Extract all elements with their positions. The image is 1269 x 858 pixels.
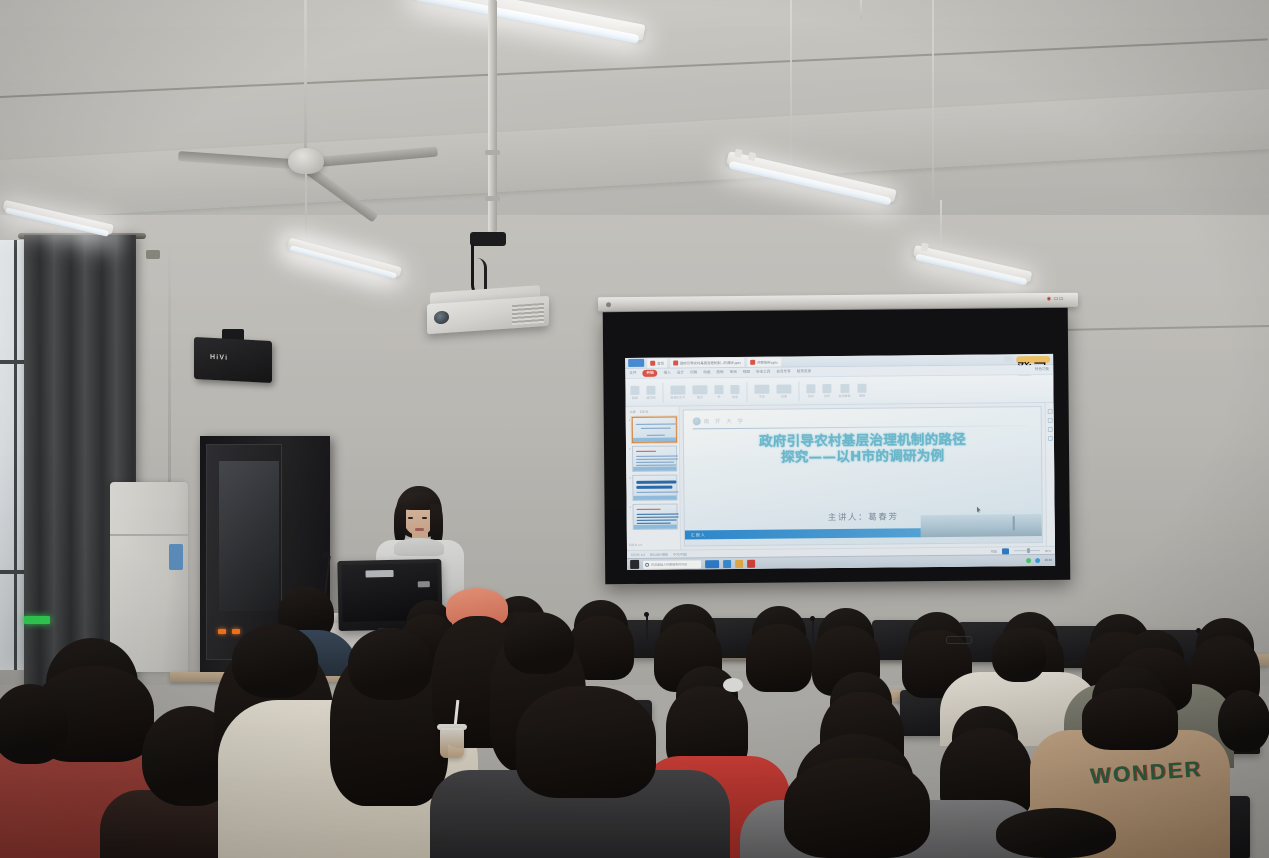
slide-thumbnail-4[interactable]: 4 bbox=[633, 504, 678, 530]
rack-orange-led bbox=[232, 629, 240, 634]
ribbon-label: 选择 bbox=[859, 393, 865, 397]
audience-head bbox=[996, 808, 1116, 858]
thumbnail-number: 3 bbox=[629, 477, 630, 480]
slide-thumbnail-3[interactable]: 3 bbox=[632, 475, 677, 501]
ribbon-separator bbox=[798, 381, 799, 401]
new-slide-icon bbox=[670, 385, 685, 394]
audience-head bbox=[1218, 690, 1269, 752]
ribbon-tab-file[interactable]: 文件 bbox=[629, 371, 636, 376]
slide-count-label: 幻灯片 1/4 bbox=[629, 543, 642, 547]
ribbon-label: 粘贴 bbox=[632, 395, 638, 399]
taskbar-media-icon[interactable] bbox=[747, 559, 755, 567]
projector-pole-joint bbox=[485, 150, 500, 155]
ribbon-label: 版式 bbox=[697, 395, 703, 399]
doc-icon bbox=[650, 360, 655, 365]
ribbon-group-paragraph[interactable]: 段落 bbox=[776, 384, 791, 398]
format-painter-icon bbox=[646, 385, 655, 394]
speaker-brand-label: HiVi bbox=[210, 354, 228, 362]
search-placeholder: 在这里输入你要搜索的内容 bbox=[651, 562, 687, 566]
ribbon-label: 节 bbox=[718, 395, 721, 399]
presenter-eye bbox=[408, 517, 413, 519]
ac-panel-seam bbox=[110, 534, 188, 536]
audience-head bbox=[232, 624, 318, 698]
university-logo-text: 南 开 大 学 bbox=[704, 417, 745, 425]
search-icon bbox=[645, 562, 649, 566]
status-views-label[interactable]: 视图 bbox=[991, 549, 997, 553]
thumbnail-footer-band bbox=[633, 438, 676, 442]
taskbar-spacer bbox=[759, 561, 1022, 564]
ribbon-group-section[interactable]: 节 bbox=[714, 385, 723, 399]
tray-status-icon[interactable] bbox=[1027, 558, 1032, 563]
rack-orange-led bbox=[218, 629, 226, 634]
thumbnail-number: 4 bbox=[630, 506, 631, 509]
fan-motor-hub bbox=[288, 148, 324, 174]
taskbar-browser-icon[interactable] bbox=[723, 560, 731, 568]
thumbnail-pane-footer: 幻灯片 1/4 bbox=[629, 543, 678, 547]
housing-fixing-dot bbox=[606, 302, 611, 307]
audience-hair bbox=[784, 758, 930, 858]
section-icon bbox=[714, 385, 723, 394]
ribbon-tab-features[interactable]: 特色功能 bbox=[1035, 367, 1049, 372]
doc-tab-presentation[interactable]: 政府引导农村基层治理机制...的调研.pptx bbox=[670, 357, 744, 367]
doc-tab-home[interactable]: 首页 bbox=[647, 358, 667, 367]
ribbon-label: 形状 bbox=[808, 394, 814, 398]
ribbon-group-font[interactable]: 字体 bbox=[754, 384, 769, 398]
slide-thumbnail-pane[interactable]: 大纲 幻灯片 1 2 bbox=[626, 407, 681, 551]
desk-microphone-stem bbox=[646, 616, 648, 640]
thumbnail-number: 2 bbox=[629, 448, 630, 451]
paste-icon bbox=[630, 385, 639, 394]
ribbon-spacer bbox=[817, 370, 1029, 372]
thumbnail-pane-header: 大纲 幻灯片 bbox=[628, 410, 677, 414]
projector-vent bbox=[512, 303, 544, 325]
status-language: 中文(中国) bbox=[673, 552, 687, 556]
ac-badge bbox=[169, 544, 183, 570]
slide-footer-text: 汇报人 bbox=[691, 532, 706, 538]
clock-time: 15:42 bbox=[1045, 558, 1053, 562]
ribbon-label: 字体 bbox=[759, 394, 765, 398]
editor-main: 大纲 幻灯片 1 2 bbox=[626, 403, 1055, 550]
monitor-sticker bbox=[418, 581, 430, 587]
slide-footer-bar: 汇报人 bbox=[685, 528, 921, 539]
resources-icon[interactable] bbox=[1047, 436, 1052, 441]
photo-building-shape bbox=[1013, 516, 1015, 530]
ribbon-tab-slideshow[interactable]: 放映 bbox=[716, 370, 723, 375]
audience-head bbox=[504, 612, 574, 674]
podium-microphone-head bbox=[322, 551, 330, 559]
wall-speaker: HiVi bbox=[194, 337, 272, 383]
outline-tab[interactable]: 大纲 bbox=[630, 410, 636, 414]
thumbnail-number: 1 bbox=[629, 419, 630, 422]
desk-microphone-head bbox=[644, 612, 649, 617]
light-hanger-wire bbox=[932, 0, 934, 200]
audience-glasses bbox=[946, 636, 972, 644]
ribbon-tab-animations[interactable]: 动画 bbox=[703, 370, 710, 375]
ribbon-group-paste[interactable]: 粘贴 bbox=[630, 385, 639, 399]
slide-photo-decoration bbox=[920, 514, 1042, 537]
audience-head bbox=[992, 628, 1046, 682]
doc-tab-label: 首页 bbox=[657, 360, 664, 365]
find-replace-icon bbox=[840, 383, 849, 392]
light-hanger-wire bbox=[860, 0, 862, 20]
audience-head bbox=[0, 684, 68, 764]
ribbon-tab-resources[interactable]: 稻壳资源 bbox=[797, 369, 811, 374]
ribbon-tab-home[interactable]: 开始 bbox=[642, 370, 657, 377]
housing-brand-mark: ◉ ▭▭ bbox=[1047, 296, 1064, 302]
tabbar-extra-icon[interactable] bbox=[1004, 356, 1013, 362]
zoom-level-label: 80% bbox=[1045, 548, 1051, 552]
hair-scrunchie bbox=[723, 678, 743, 692]
curtain-bracket bbox=[146, 250, 160, 259]
lecture-hall-photo: HiVi bbox=[0, 0, 1269, 858]
doc-tab-defense[interactable]: 开题答辩.pptx bbox=[747, 357, 781, 366]
slide-canvas-pane[interactable]: 南 开 大 学 政府引导农村基层治理机制的路径 探究——以H市的调研为例 主讲人… bbox=[680, 403, 1046, 549]
slide-thumbnail-2[interactable]: 2 bbox=[632, 446, 677, 472]
slide-thumbnail-1[interactable]: 1 bbox=[632, 417, 677, 443]
eye-icon[interactable] bbox=[1047, 418, 1052, 423]
bubble-tea-cup[interactable] bbox=[440, 728, 464, 758]
taskbar-search-input[interactable]: 在这里输入你要搜索的内容 bbox=[643, 560, 701, 569]
status-spacer bbox=[692, 551, 986, 554]
university-logo: 南 开 大 学 bbox=[693, 417, 745, 426]
fan-downrod bbox=[304, 0, 307, 152]
ribbon-tab-view[interactable]: 视图 bbox=[743, 370, 750, 375]
ribbon-label: 新建幻灯片 bbox=[671, 395, 686, 399]
shapes-icon[interactable] bbox=[1047, 427, 1052, 432]
university-seal-icon bbox=[693, 417, 701, 425]
taskbar-wps-icon[interactable] bbox=[705, 560, 719, 568]
audience-hair bbox=[1082, 688, 1178, 750]
desk-microphone-head bbox=[810, 616, 815, 621]
reset-icon bbox=[730, 384, 739, 393]
desk-microphone-stem bbox=[812, 620, 814, 648]
projection-screen-surface[interactable]: 首页 政府引导农村基层治理机制...的调研.pptx 开题答辩.pptx 登录 bbox=[625, 354, 1055, 570]
right-tool-rail[interactable] bbox=[1045, 403, 1055, 546]
presenter-hood bbox=[394, 538, 444, 556]
ribbon-label: 排列 bbox=[824, 394, 830, 398]
presenter-eye bbox=[422, 517, 427, 519]
shapes-icon bbox=[806, 384, 815, 393]
tabbar-spacer bbox=[784, 359, 1001, 361]
ribbon-tab-security[interactable]: 安全工具 bbox=[756, 370, 770, 375]
ribbon-label: 格式刷 bbox=[647, 395, 656, 399]
slide-title: 政府引导农村基层治理机制的路径 探究——以H市的调研为例 bbox=[684, 431, 1041, 467]
doc-tab-label: 开题答辩.pptx bbox=[757, 359, 778, 364]
doc-icon bbox=[750, 359, 755, 364]
tray-network-icon[interactable] bbox=[1036, 558, 1041, 563]
monitor-sticker bbox=[365, 570, 393, 578]
ribbon-separator bbox=[662, 382, 663, 402]
wps-logo-icon[interactable] bbox=[628, 359, 644, 367]
ribbon-tab-design[interactable]: 设计 bbox=[677, 370, 684, 375]
ribbon-commands: 粘贴 格式刷 新建幻灯片 版式 bbox=[625, 375, 1053, 407]
panel-icon[interactable] bbox=[1047, 409, 1052, 414]
slides-tab[interactable]: 幻灯片 bbox=[640, 410, 649, 414]
ribbon-group-select[interactable]: 选择 bbox=[857, 383, 866, 397]
thumbnail-footer-band bbox=[633, 496, 676, 500]
presenter-hair-left bbox=[394, 504, 406, 544]
thumbnail-footer-band bbox=[634, 525, 677, 529]
ribbon-label: 重置 bbox=[732, 394, 738, 398]
thumbnail-footer-band bbox=[633, 467, 676, 471]
audience-head bbox=[348, 628, 432, 700]
ribbon-tab-review[interactable]: 审阅 bbox=[730, 370, 737, 375]
slide-title-line2: 探究——以H市的调研为例 bbox=[684, 448, 1041, 468]
ribbon-group-layout[interactable]: 版式 bbox=[692, 385, 707, 399]
layout-icon bbox=[692, 385, 707, 394]
status-slide-count: 幻灯片 1/4 bbox=[631, 552, 645, 556]
ribbon-separator bbox=[746, 381, 747, 401]
font-icon bbox=[754, 384, 769, 393]
zoom-slider-knob[interactable] bbox=[1027, 548, 1030, 553]
taskbar-folder-icon[interactable] bbox=[735, 559, 743, 567]
projector-pole-joint bbox=[485, 196, 500, 201]
audience-hair bbox=[516, 686, 656, 798]
ribbon-label: 段落 bbox=[781, 394, 787, 398]
ribbon-group-find[interactable]: 查找替换 bbox=[838, 383, 850, 397]
zoom-slider[interactable] bbox=[1014, 550, 1040, 551]
paragraph-icon bbox=[776, 384, 791, 393]
doc-tab-label: 政府引导农村基层治理机制...的调研.pptx bbox=[680, 359, 741, 365]
light-hanger-wire bbox=[790, 0, 792, 184]
ribbon-label: 查找替换 bbox=[839, 393, 851, 397]
ribbon-tab-transitions[interactable]: 切换 bbox=[690, 370, 697, 375]
projection-screen-frame: 首页 政府引导农村基层治理机制...的调研.pptx 开题答辩.pptx 登录 bbox=[603, 308, 1071, 584]
start-icon[interactable] bbox=[630, 560, 639, 569]
floor-air-conditioner[interactable] bbox=[110, 482, 188, 672]
ribbon-group-arrange[interactable]: 排列 bbox=[822, 384, 831, 398]
login-button[interactable]: 登录 bbox=[1016, 355, 1050, 362]
window-mullion bbox=[14, 240, 17, 670]
taskbar-clock[interactable]: 15:42 bbox=[1045, 559, 1053, 562]
status-design-template: 默认设计模板 bbox=[650, 552, 668, 556]
doc-icon bbox=[673, 360, 678, 365]
ribbon-group-formatpainter[interactable]: 格式刷 bbox=[646, 385, 655, 399]
ribbon-tab-insert[interactable]: 插入 bbox=[664, 371, 671, 376]
slideshow-play-button[interactable] bbox=[1002, 548, 1009, 554]
presenter-mouth bbox=[415, 528, 424, 531]
current-slide[interactable]: 南 开 大 学 政府引导农村基层治理机制的路径 探究——以H市的调研为例 主讲人… bbox=[683, 406, 1043, 546]
arrange-icon bbox=[822, 384, 831, 393]
slide-header-rule bbox=[693, 425, 1029, 429]
projected-desktop: 首页 政府引导农村基层治理机制...的调研.pptx 开题答辩.pptx 登录 bbox=[625, 354, 1055, 570]
rack-green-led-display bbox=[24, 616, 50, 624]
audience-hair bbox=[746, 624, 812, 692]
ribbon-group-reset[interactable]: 重置 bbox=[730, 384, 739, 398]
ribbon-group-shapes[interactable]: 形状 bbox=[806, 384, 815, 398]
ribbon-group-newslide[interactable]: 新建幻灯片 bbox=[670, 385, 685, 399]
select-icon bbox=[857, 383, 866, 392]
ribbon-tab-member[interactable]: 会员专享 bbox=[776, 369, 790, 374]
rack-glass-panel bbox=[219, 461, 279, 611]
